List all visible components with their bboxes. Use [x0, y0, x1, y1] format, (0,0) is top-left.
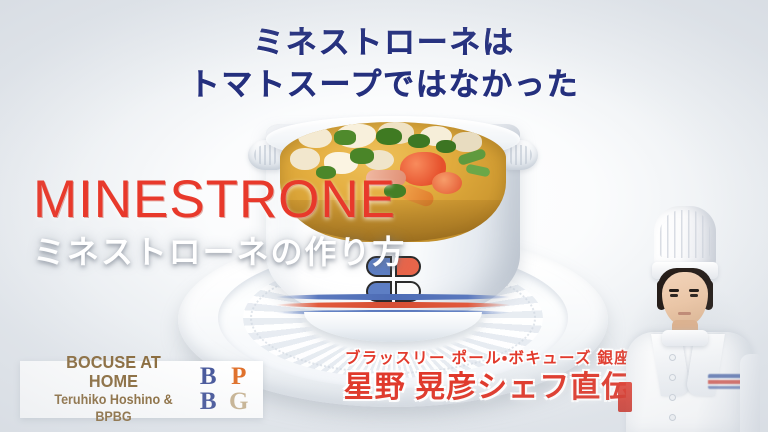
chef-mouth [678, 312, 691, 315]
headline-line-1: ミネストローネは [253, 25, 515, 60]
bowl-stripe-red [276, 302, 510, 308]
logo-wordmark: BOCUSE AT HOME Teruhiko Hoshino & BPBG [20, 353, 193, 426]
bowl-stripe-blue-upper [276, 294, 510, 300]
chef-jacket-buttons [669, 354, 676, 432]
chef-portrait [612, 204, 762, 432]
chef-jacket-red-accent [618, 382, 632, 412]
restaurant-name: ブラッスリー ポール・ボキューズ 銀座 [318, 349, 658, 368]
chef-brow-right [689, 289, 699, 292]
logo-title: BOCUSE AT HOME [40, 353, 188, 392]
video-thumbnail: ミネストローネは トマトスープではなかった MINESTRONE ミネストローネ… [0, 0, 768, 432]
monogram-b1: B [193, 365, 224, 390]
bpbg-monogram: B P B G [193, 365, 263, 414]
chef-jacket-embroidery [708, 374, 742, 389]
monogram-g: G [224, 390, 255, 415]
monogram-p: P [224, 365, 255, 390]
bocuse-at-home-logo: BOCUSE AT HOME Teruhiko Hoshino & BPBG B… [20, 361, 263, 418]
page-title: MINESTRONE [33, 173, 396, 226]
headline: ミネストローネは トマトスープではなかった [0, 22, 768, 107]
chef-name: 星野 晃彦シェフ直伝 [318, 370, 658, 405]
chef-eye-left [670, 294, 678, 297]
page-subtitle: ミネストローネの作り方 [33, 236, 406, 268]
chef-eye-right [690, 294, 698, 297]
chef-collar [662, 330, 708, 346]
chef-brow-left [669, 289, 679, 292]
chef-hat-icon [654, 206, 716, 268]
headline-line-2: トマトスープではなかった [0, 64, 768, 106]
chef-credit: ブラッスリー ポール・ボキューズ 銀座 星野 晃彦シェフ直伝 [318, 349, 658, 406]
chef-arm-right [740, 354, 760, 432]
monogram-b2: B [193, 390, 224, 415]
logo-byline: Teruhiko Hoshino & BPBG [40, 392, 188, 426]
